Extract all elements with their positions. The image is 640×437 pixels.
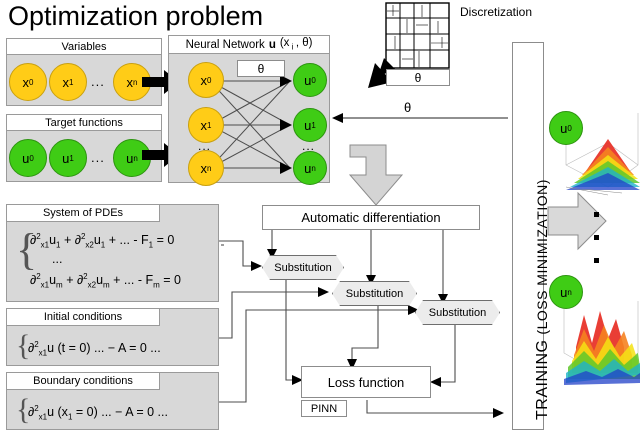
substitution-label: Substitution — [429, 307, 486, 319]
ellipsis-dot — [594, 235, 599, 240]
subscript-0: 0 — [567, 124, 571, 133]
substitution-box-1: Substitution — [262, 255, 344, 280]
loss-function-label: Loss function — [328, 375, 405, 390]
substitution-box-2: Substitution — [332, 281, 417, 306]
substitution-box-3: Substitution — [415, 300, 500, 325]
result-node-u0: u0 — [549, 111, 583, 145]
ellipsis-dot — [594, 212, 599, 217]
pinn-label: PINN — [311, 403, 337, 415]
subscript-n: n — [567, 288, 571, 297]
substitution-label: Substitution — [346, 288, 403, 300]
pinn-tag: PINN — [301, 400, 347, 417]
substitution-label: Substitution — [274, 262, 331, 274]
training-label-main: TRAINING — [534, 340, 551, 420]
loss-function-box: Loss function — [301, 366, 431, 398]
ellipsis-dot — [594, 258, 599, 263]
result-node-un: un — [549, 275, 583, 309]
results-vertical-ellipsis — [594, 212, 602, 272]
